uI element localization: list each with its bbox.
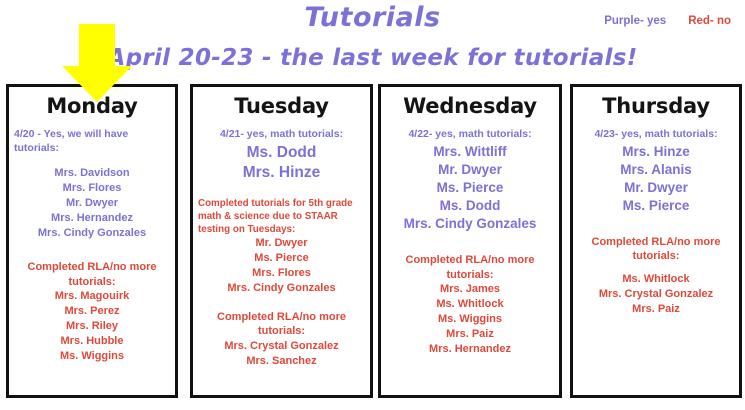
- monday-no-section: Completed RLA/no more tutorials: Mrs. Ma…: [14, 260, 170, 363]
- tuesday-staar-lead: Completed tutorials for 5th grade math &…: [198, 198, 365, 236]
- tuesday-no-lead: Completed RLA/no more tutorials:: [198, 310, 365, 339]
- list-item: Mrs. Cindy Gonzales: [14, 226, 170, 241]
- monday-yes-names: Mrs. Davidson Mrs. Flores Mr. Dwyer Mrs.…: [14, 166, 170, 241]
- wednesday-yes-section: 4/22- yes, math tutorials: Mrs. Wittliff…: [386, 128, 554, 233]
- day-card-tuesday: Tuesday 4/21- yes, math tutorials: Ms. D…: [190, 84, 373, 398]
- list-item: Ms. Pierce: [578, 197, 734, 215]
- color-legend: Purple- yes Red- no: [604, 15, 731, 27]
- list-item: Mrs. Hernandez: [14, 211, 170, 226]
- down-arrow-icon: [62, 24, 132, 102]
- day-card-monday: Monday 4/20 - Yes, we will have tutorial…: [6, 84, 178, 398]
- list-item: Mrs. Cindy Gonzales: [386, 215, 554, 233]
- list-item: Mrs. Hernandez: [386, 342, 554, 357]
- arrow-head: [62, 66, 132, 102]
- monday-yes-section: 4/20 - Yes, we will have tutorials: Mrs.…: [14, 128, 170, 240]
- list-item: Ms. Pierce: [386, 179, 554, 197]
- list-item: Mrs. Hubble: [14, 334, 170, 349]
- list-item: Mrs. Flores: [198, 266, 365, 281]
- wednesday-no-section: Completed RLA/no more tutorials: Mrs. Ja…: [386, 253, 554, 356]
- list-item: Mr. Dwyer: [578, 179, 734, 197]
- tuesday-staar-section: Completed tutorials for 5th grade math &…: [198, 198, 365, 296]
- list-item: Mr. Dwyer: [14, 196, 170, 211]
- list-item: Mrs. Perez: [14, 304, 170, 319]
- list-item: Ms. Whitlock: [578, 272, 734, 287]
- thursday-yes-section: 4/23- yes, math tutorials: Mrs. Hinze Mr…: [578, 128, 734, 215]
- day-title-tuesday: Tuesday: [198, 94, 365, 118]
- list-item: Ms. Dodd: [198, 143, 365, 164]
- list-item: Ms. Dodd: [386, 197, 554, 215]
- list-item: Ms. Wiggins: [14, 349, 170, 364]
- tuesday-yes-lead: 4/21- yes, math tutorials:: [198, 128, 365, 142]
- list-item: Mrs. Cindy Gonzales: [198, 281, 365, 296]
- list-item: Mrs. Sanchez: [198, 354, 365, 369]
- list-item: Ms. Whitlock: [386, 297, 554, 312]
- thursday-yes-lead: 4/23- yes, math tutorials:: [578, 128, 734, 142]
- list-item: Mrs. Crystal Gonzalez: [578, 287, 734, 302]
- list-item: Mrs. Davidson: [14, 166, 170, 181]
- list-item: Mrs. Alanis: [578, 161, 734, 179]
- list-item: Ms. Wiggins: [386, 312, 554, 327]
- weekday-board: Monday 4/20 - Yes, we will have tutorial…: [0, 84, 745, 400]
- page-header: Tutorials Purple- yes Red- no April 20-2…: [0, 0, 745, 82]
- list-item: Mrs. James: [386, 282, 554, 297]
- wednesday-yes-names: Mrs. Wittliff Mr. Dwyer Ms. Pierce Ms. D…: [386, 143, 554, 233]
- tuesday-no-names: Mrs. Crystal Gonzalez Mrs. Sanchez: [198, 339, 365, 369]
- list-item: Mrs. Hinze: [578, 143, 734, 161]
- tuesday-no-section: Completed RLA/no more tutorials: Mrs. Cr…: [198, 310, 365, 369]
- day-card-thursday: Thursday 4/23- yes, math tutorials: Mrs.…: [570, 84, 742, 398]
- wednesday-no-lead: Completed RLA/no more tutorials:: [386, 253, 554, 282]
- list-item: Mrs. Flores: [14, 181, 170, 196]
- list-item: Mrs. Hinze: [198, 163, 365, 184]
- list-item: Mrs. Wittliff: [386, 143, 554, 161]
- thursday-no-section: Completed RLA/no more tutorials: Ms. Whi…: [578, 235, 734, 316]
- legend-red-no: Red- no: [688, 15, 731, 27]
- legend-purple-yes: Purple- yes: [604, 15, 666, 27]
- day-card-wednesday: Wednesday 4/22- yes, math tutorials: Mrs…: [378, 84, 562, 398]
- thursday-yes-names: Mrs. Hinze Mrs. Alanis Mr. Dwyer Ms. Pie…: [578, 143, 734, 215]
- list-item: Mrs. Paiz: [578, 302, 734, 317]
- thursday-no-lead: Completed RLA/no more tutorials:: [578, 235, 734, 264]
- day-title-thursday: Thursday: [578, 94, 734, 118]
- list-item: Mr. Dwyer: [198, 236, 365, 251]
- day-title-wednesday: Wednesday: [386, 94, 554, 118]
- list-item: Mrs. Paiz: [386, 327, 554, 342]
- monday-yes-lead: 4/20 - Yes, we will have tutorials:: [14, 128, 170, 156]
- list-item: Mrs. Crystal Gonzalez: [198, 339, 365, 354]
- tuesday-yes-section: 4/21- yes, math tutorials: Ms. Dodd Mrs.…: [198, 128, 365, 184]
- list-item: Ms. Pierce: [198, 251, 365, 266]
- monday-no-lead: Completed RLA/no more tutorials:: [14, 260, 170, 289]
- thursday-no-names: Ms. Whitlock Mrs. Crystal Gonzalez Mrs. …: [578, 272, 734, 317]
- tuesday-yes-names: Ms. Dodd Mrs. Hinze: [198, 143, 365, 184]
- wednesday-no-names: Mrs. James Ms. Whitlock Ms. Wiggins Mrs.…: [386, 282, 554, 357]
- list-item: Mrs. Magouirk: [14, 289, 170, 304]
- list-item: Mrs. Riley: [14, 319, 170, 334]
- arrow-shaft: [79, 24, 115, 70]
- wednesday-yes-lead: 4/22- yes, math tutorials:: [386, 128, 554, 142]
- monday-no-names: Mrs. Magouirk Mrs. Perez Mrs. Riley Mrs.…: [14, 289, 170, 364]
- list-item: Mr. Dwyer: [386, 161, 554, 179]
- tuesday-staar-names: Mr. Dwyer Ms. Pierce Mrs. Flores Mrs. Ci…: [198, 236, 365, 296]
